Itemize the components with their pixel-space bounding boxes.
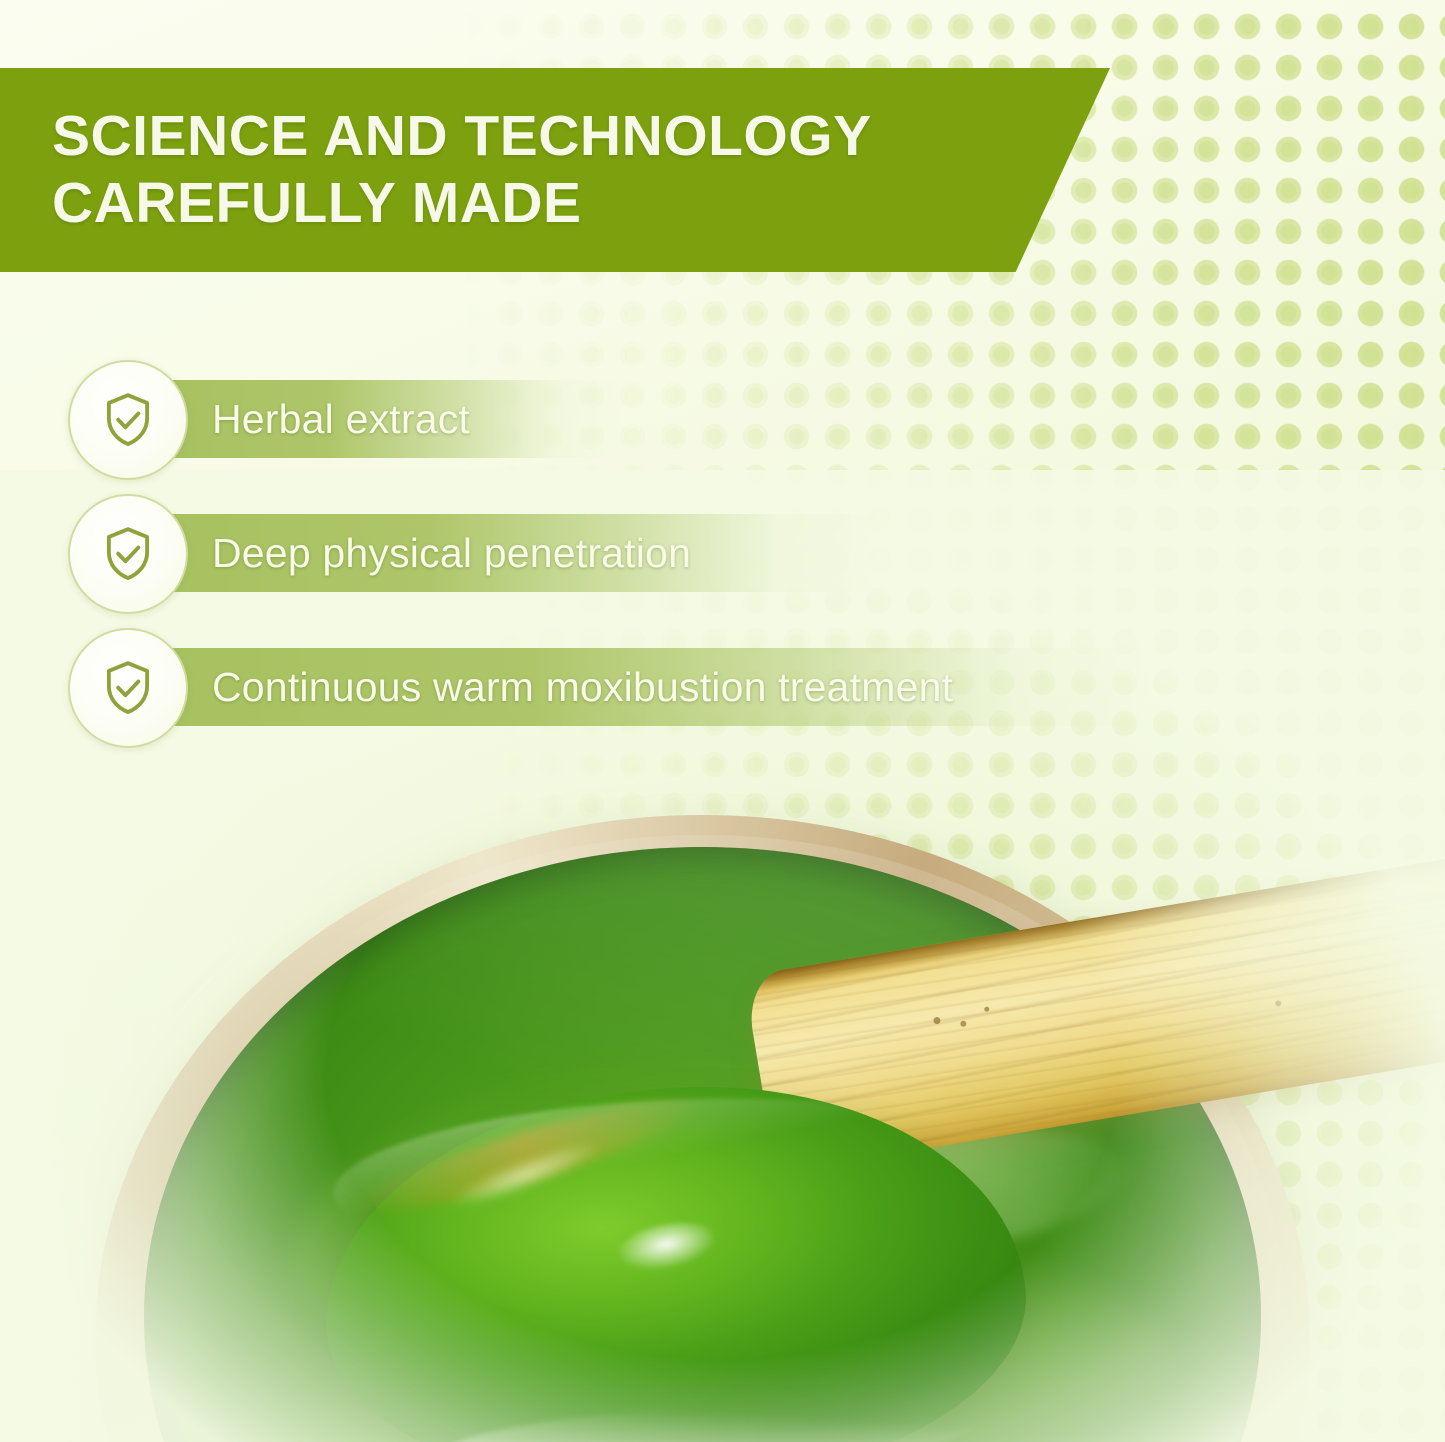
feature-label: Herbal extract — [212, 380, 470, 458]
headline-banner: SCIENCE AND TECHNOLOGYCAREFULLY MADE — [0, 68, 1110, 272]
feature-list: Herbal extract Deep physical penetration… — [0, 352, 1445, 754]
feature-item-3: Continuous warm moxibustion treatment — [0, 620, 1445, 754]
title-line-2: CAREFULLY MADE — [52, 171, 582, 235]
poster-canvas: SCIENCE AND TECHNOLOGYCAREFULLY MADE Her… — [0, 0, 1445, 1442]
title-line-1: SCIENCE AND TECHNOLOGY — [52, 104, 872, 168]
shield-check-icon — [68, 628, 188, 748]
paste-bottom-light — [444, 1392, 979, 1442]
feature-label: Deep physical penetration — [212, 514, 691, 592]
feature-item-2: Deep physical penetration — [0, 486, 1445, 620]
shield-check-icon — [68, 494, 188, 614]
shield-check-icon — [68, 360, 188, 480]
page-title: SCIENCE AND TECHNOLOGYCAREFULLY MADE — [0, 103, 872, 238]
feature-label: Continuous warm moxibustion treatment — [212, 648, 953, 726]
feature-item-1: Herbal extract — [0, 352, 1445, 486]
